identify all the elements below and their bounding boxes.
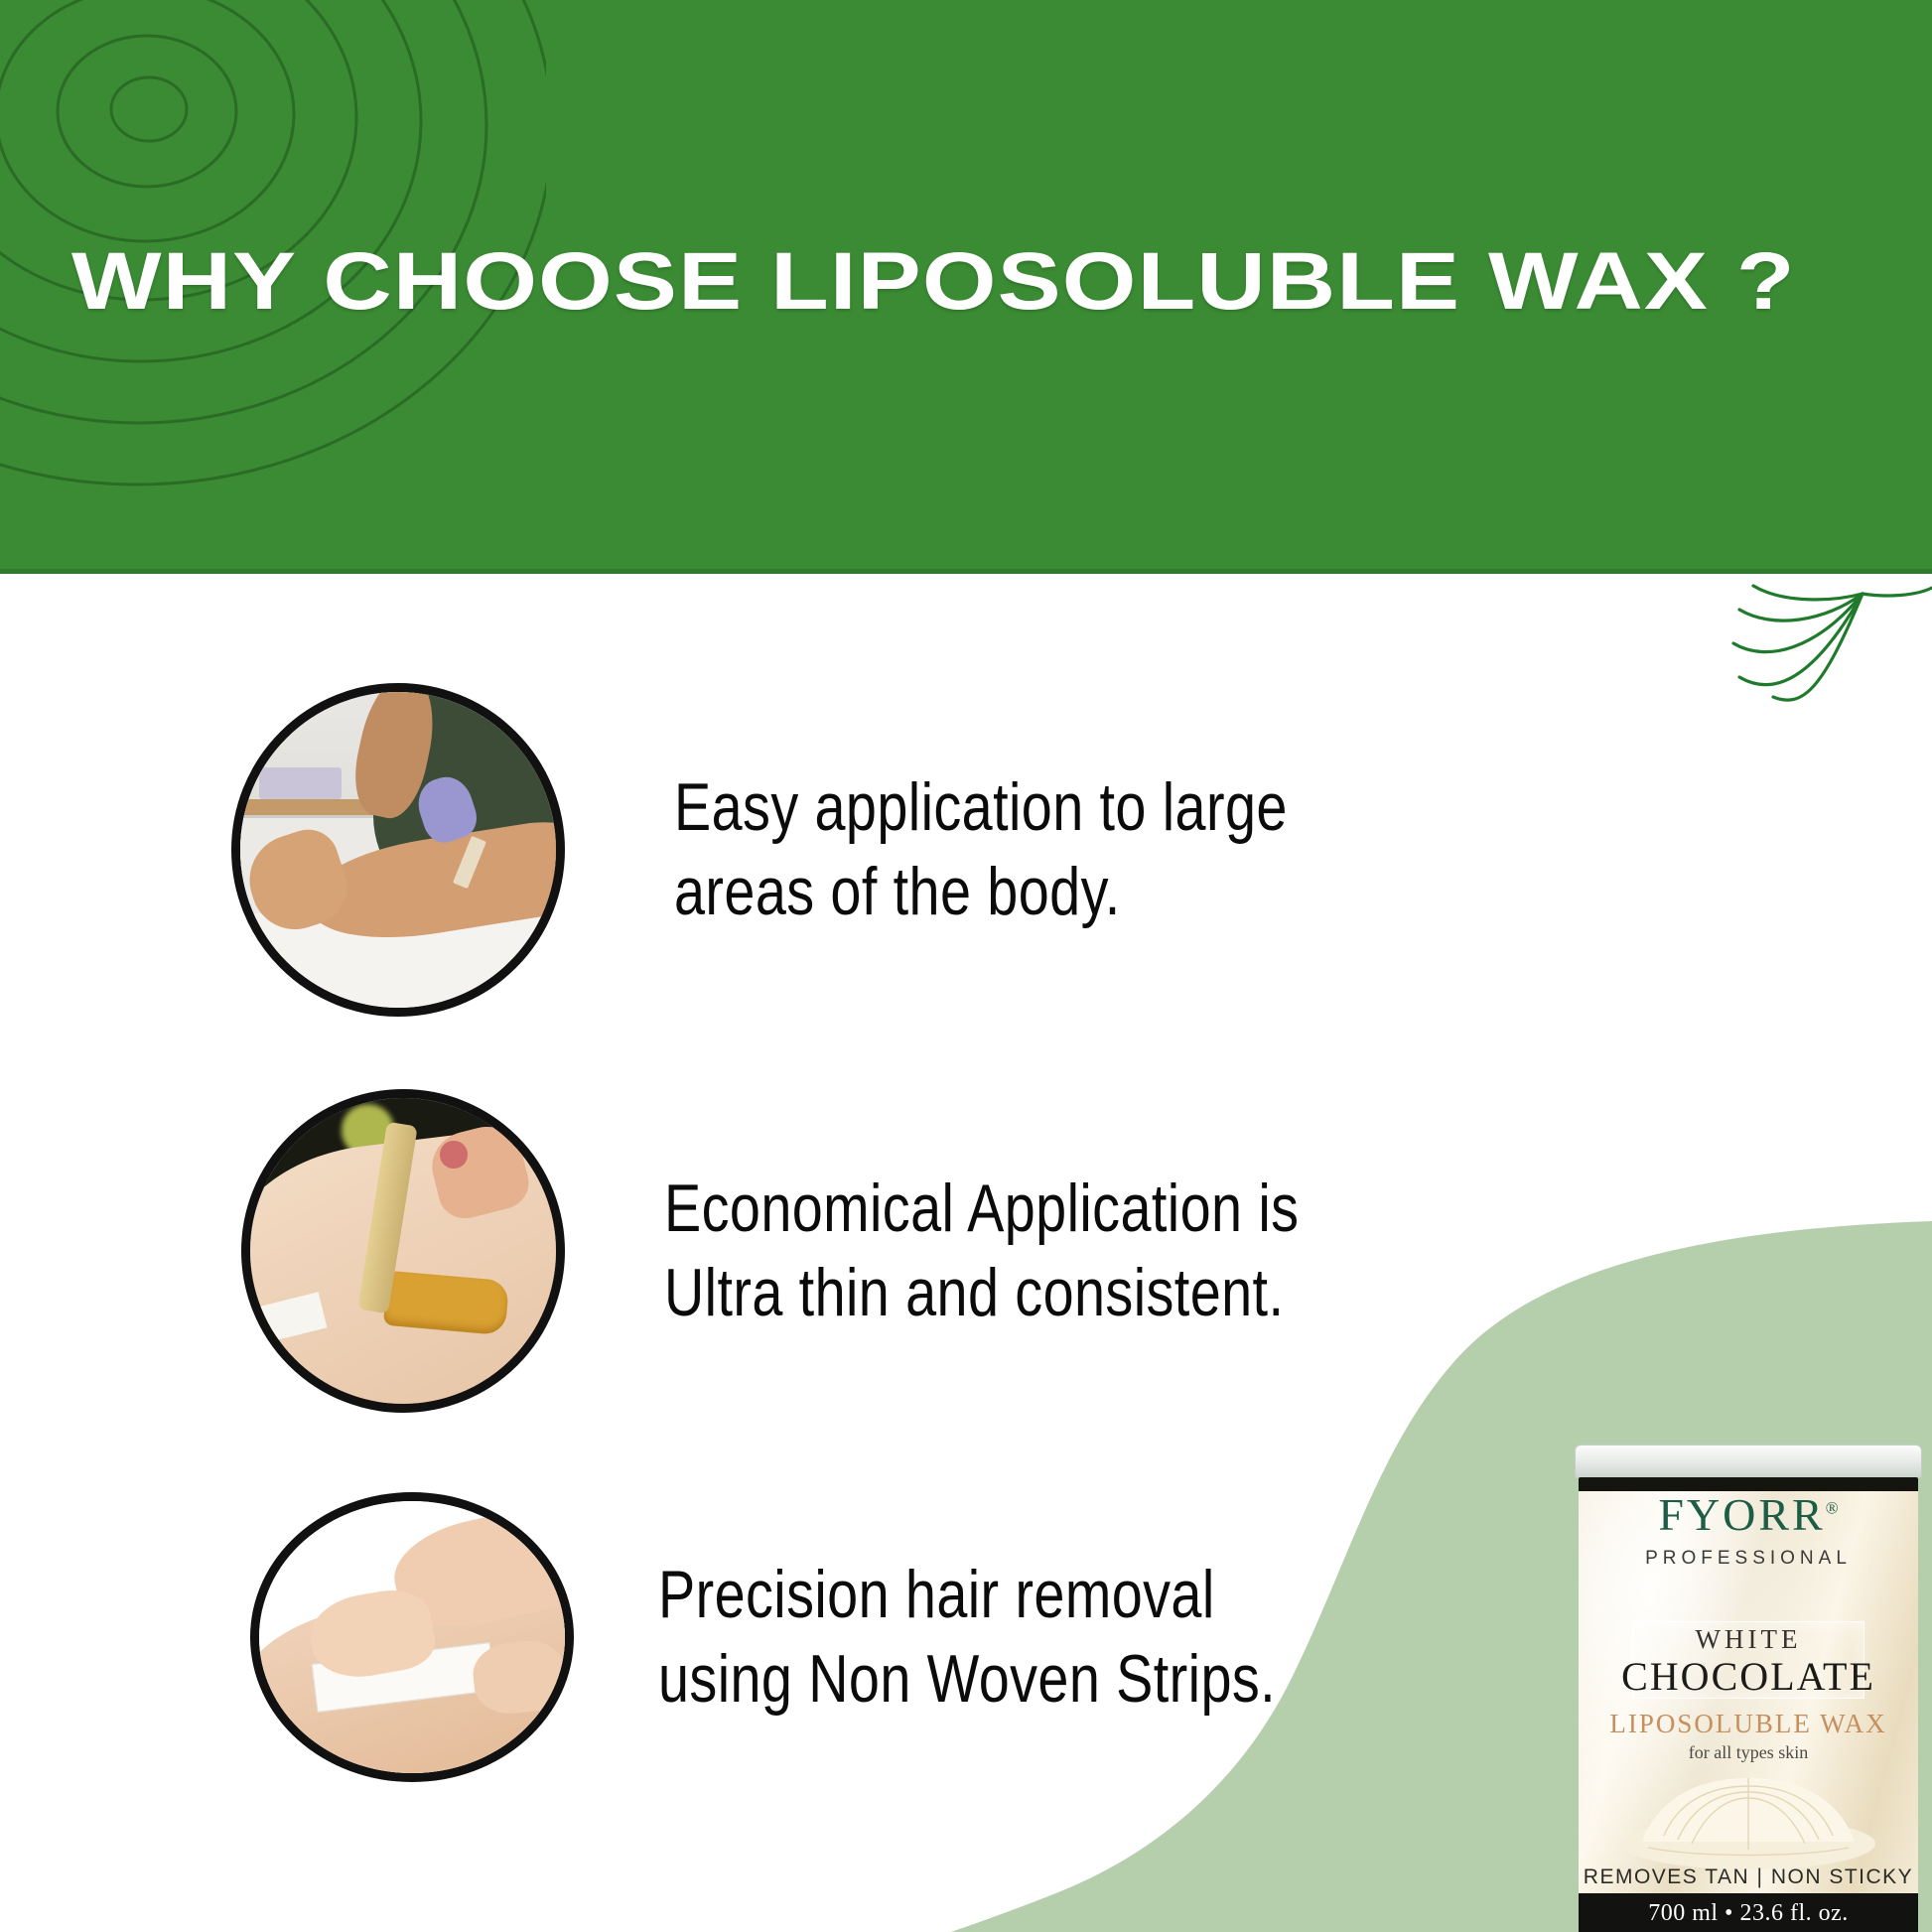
feature-row-1: Easy application to large areas of the b… [231,683,1816,1017]
feature-text-2: Economical Application is Ultra thin and… [664,1167,1625,1335]
product-feature-poster: WHY CHOOSE LIPOSOLUBLE WAX ? [0,0,1932,1932]
white-chocolate-illustration [1618,1772,1878,1869]
feature-row-2: Economical Application is Ultra thin and… [241,1089,1836,1413]
product-can: FYORR® PROFESSIONAL WHITE CHOCOLATE LIPO… [1575,1445,1922,1932]
feature-text-1: Easy application to large areas of the b… [674,765,1610,934]
brand-word: FYORR [1658,1489,1825,1540]
product-type: LIPOSOLUBLE WAX [1575,1709,1922,1739]
brand-tier: PROFESSIONAL [1575,1548,1922,1570]
skin-note: for all types skin [1575,1742,1922,1763]
page-title: WHY CHOOSE LIPOSOLUBLE WAX ? [71,241,1932,323]
variant-line-1: WHITE [1575,1624,1922,1655]
can-lid [1575,1445,1922,1478]
variant-line-2: CHOCOLATE [1575,1653,1922,1700]
feature-text-3: Precision hair removal using Non Woven S… [658,1553,1651,1722]
product-volume: 700 ml • 23.6 fl. oz. [1575,1900,1922,1927]
registered-trademark-icon: ® [1826,1499,1839,1518]
header-banner: WHY CHOOSE LIPOSOLUBLE WAX ? [0,0,1932,574]
brand-name: FYORR® [1575,1492,1922,1538]
feature-image-2 [241,1089,565,1413]
product-claims: REMOVES TAN | NON STICKY [1575,1865,1922,1889]
feature-image-1 [231,683,565,1017]
feature-image-3 [250,1492,574,1782]
